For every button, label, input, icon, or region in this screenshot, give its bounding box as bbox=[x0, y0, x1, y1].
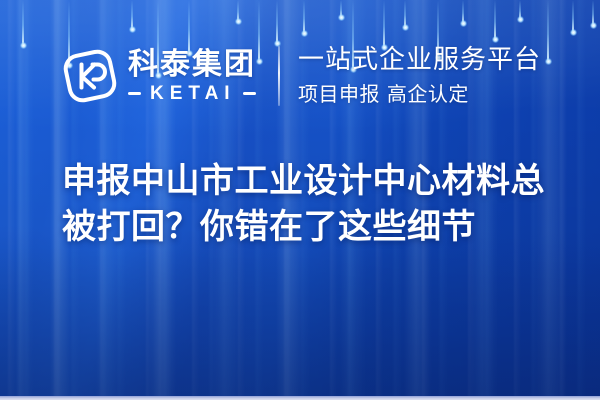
bottom-rule bbox=[0, 396, 600, 400]
brand-lockup: 科泰集团 KETAI bbox=[62, 48, 256, 104]
headline-title: 申报中山市工业设计中心材料总被打回？你错在了这些细节 bbox=[62, 158, 567, 250]
light-streak-decor bbox=[404, 0, 406, 28]
header-divider bbox=[278, 46, 280, 106]
banner-header: 科泰集团 KETAI 一站式企业服务平台 项目申报 高企认定 bbox=[0, 36, 600, 116]
light-streak-decor bbox=[131, 0, 133, 30]
ketai-diamond-kp-logo-icon bbox=[62, 48, 118, 104]
tagline-block: 一站式企业服务平台 项目申报 高企认定 bbox=[298, 46, 541, 106]
light-streak-decor bbox=[572, 0, 574, 33]
light-streak-decor bbox=[494, 0, 496, 40]
background-bottom-shade bbox=[0, 230, 600, 400]
brand-text-block: 科泰集团 KETAI bbox=[128, 49, 256, 103]
light-streak-decor bbox=[237, 0, 239, 22]
brand-name-en: KETAI bbox=[141, 84, 243, 103]
brand-name-cn: 科泰集团 bbox=[128, 49, 256, 81]
dash-right-decor bbox=[243, 92, 256, 95]
promo-banner: 科泰集团 KETAI 一站式企业服务平台 项目申报 高企认定 申报中山市工业设计… bbox=[0, 0, 600, 400]
light-streak-decor bbox=[462, 0, 464, 24]
brand-name-en-row: KETAI bbox=[128, 84, 256, 103]
tagline-main: 一站式企业服务平台 bbox=[298, 46, 541, 76]
light-streak-decor bbox=[519, 0, 521, 20]
light-streak-decor bbox=[303, 0, 305, 34]
light-streak-decor bbox=[592, 0, 594, 26]
dash-left-decor bbox=[128, 92, 141, 95]
light-streak-decor bbox=[340, 0, 342, 18]
tagline-sub: 项目申报 高企认定 bbox=[298, 82, 541, 106]
